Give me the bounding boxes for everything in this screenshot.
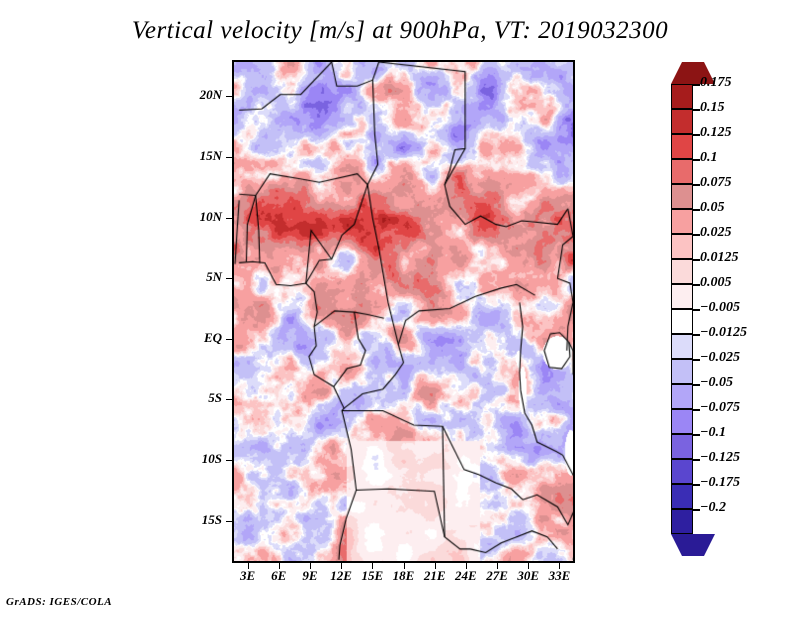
colorbar-tick (693, 284, 700, 286)
colorbar-tick-label: −0.05 (700, 375, 733, 391)
colorbar-segment (671, 409, 693, 434)
colorbar-tick (693, 334, 700, 336)
colorbar-tick (693, 484, 700, 486)
colorbar-tick (693, 359, 700, 361)
colorbar-segment (671, 434, 693, 459)
colorbar-tick-label: −0.175 (700, 475, 740, 491)
colorbar-tick-label: 0.175 (700, 75, 732, 91)
colorbar-segment (671, 484, 693, 509)
x-tick-label: 33E (541, 568, 577, 584)
y-tick (226, 399, 232, 400)
colorbar-tick (693, 259, 700, 261)
colorbar-segment (671, 259, 693, 284)
y-tick-label: 10S (162, 451, 222, 467)
page-title: Vertical velocity [m/s] at 900hPa, VT: 2… (0, 17, 800, 45)
colorbar-segment (671, 134, 693, 159)
colorbar-tick-label: 0.025 (700, 225, 732, 241)
grads-credit: GrADS: IGES/COLA (6, 596, 112, 608)
colorbar-tick (693, 434, 700, 436)
y-tick (226, 96, 232, 97)
colorbar-tick (693, 309, 700, 311)
colorbar-tick-label: −0.075 (700, 400, 740, 416)
colorbar-segment (671, 509, 693, 534)
colorbar-tick-label: −0.005 (700, 300, 740, 316)
colorbar-tick-label: −0.1 (700, 425, 726, 441)
colorbar-tick (693, 134, 700, 136)
colorbar-tick (693, 509, 700, 511)
colorbar-tick-label: 0.125 (700, 125, 732, 141)
colorbar-tick (693, 184, 700, 186)
colorbar-segment (671, 209, 693, 234)
colorbar-tick (693, 384, 700, 386)
colorbar-tick (693, 109, 700, 111)
colorbar-min-arrow (671, 534, 715, 556)
colorbar-tick (693, 84, 700, 86)
y-tick-label: 5N (162, 269, 222, 285)
y-tick-label: 10N (162, 209, 222, 225)
colorbar-segment (671, 84, 693, 109)
colorbar-segment (671, 459, 693, 484)
colorbar-tick-label: 0.075 (700, 175, 732, 191)
colorbar-tick-label: 0.005 (700, 275, 732, 291)
colorbar-tick-label: −0.025 (700, 350, 740, 366)
y-tick (226, 218, 232, 219)
colorbar-segment (671, 159, 693, 184)
colorbar-tick (693, 459, 700, 461)
colorbar-tick-label: 0.1 (700, 150, 718, 166)
colorbar-segment (671, 309, 693, 334)
y-tick-label: 20N (162, 87, 222, 103)
colorbar-tick-label: 0.15 (700, 100, 725, 116)
colorbar-tick-label: 0.0125 (700, 250, 739, 266)
colorbar-segment (671, 384, 693, 409)
y-tick-label: 5S (162, 390, 222, 406)
y-tick-label: 15N (162, 148, 222, 164)
colorbar-segment (671, 359, 693, 384)
y-tick (226, 460, 232, 461)
colorbar-tick (693, 209, 700, 211)
colorbar-tick (693, 234, 700, 236)
colorbar-tick-label: −0.0125 (700, 325, 747, 341)
colorbar-tick-label: 0.05 (700, 200, 725, 216)
colorbar-tick-label: −0.125 (700, 450, 740, 466)
y-tick (226, 521, 232, 522)
colorbar-tick (693, 159, 700, 161)
colorbar (671, 62, 693, 556)
map-plot-area (232, 60, 575, 563)
y-tick-label: EQ (162, 330, 222, 346)
colorbar-tick-label: −0.2 (700, 500, 726, 516)
colorbar-segment (671, 334, 693, 359)
y-tick-label: 15S (162, 512, 222, 528)
colorbar-segment (671, 184, 693, 209)
colorbar-tick (693, 409, 700, 411)
colorbar-segment (671, 234, 693, 259)
colorbar-segment (671, 284, 693, 309)
y-tick (226, 339, 232, 340)
y-tick (226, 278, 232, 279)
vertical-velocity-field (234, 62, 573, 561)
colorbar-segment (671, 109, 693, 134)
y-tick (226, 157, 232, 158)
